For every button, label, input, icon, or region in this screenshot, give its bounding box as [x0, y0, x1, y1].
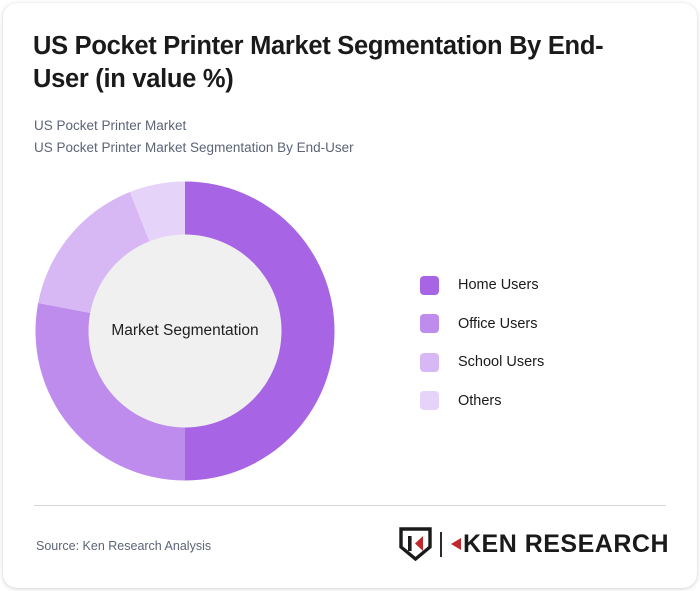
legend-label: Office Users: [458, 316, 538, 332]
shield-k-icon: [399, 527, 432, 561]
legend-swatch: [420, 353, 439, 372]
chart-card: US Pocket Printer Market Segmentation By…: [3, 3, 697, 588]
donut-hole: [89, 235, 282, 428]
logo-wordmark: KEN RESEARCH: [449, 530, 669, 559]
legend-item[interactable]: Others: [420, 382, 544, 421]
logo-wordmark-text: KEN RESEARCH: [463, 530, 669, 559]
donut-svg: [35, 181, 335, 481]
footer-divider: [34, 505, 666, 506]
legend-item[interactable]: School Users: [420, 343, 544, 382]
ken-research-logo: KEN RESEARCH: [399, 527, 669, 561]
legend-swatch: [420, 276, 439, 295]
legend-label: Home Users: [458, 277, 539, 293]
subtitle-block: US Pocket Printer Market US Pocket Print…: [34, 115, 354, 159]
subtitle-line-market: US Pocket Printer Market: [34, 115, 354, 137]
logo-divider: [440, 532, 442, 557]
subtitle-line-segmentation: US Pocket Printer Market Segmentation By…: [34, 137, 354, 159]
legend-swatch: [420, 314, 439, 333]
legend-swatch: [420, 391, 439, 410]
chart-legend: Home UsersOffice UsersSchool UsersOthers: [420, 266, 544, 420]
legend-label: School Users: [458, 354, 544, 370]
donut-chart: Market Segmentation: [35, 181, 335, 481]
page-title: US Pocket Printer Market Segmentation By…: [33, 30, 658, 95]
legend-item[interactable]: Home Users: [420, 266, 544, 305]
legend-item[interactable]: Office Users: [420, 305, 544, 344]
legend-label: Others: [458, 393, 502, 409]
chart-area: Market Segmentation Home UsersOffice Use…: [3, 163, 697, 493]
source-note: Source: Ken Research Analysis: [36, 539, 211, 553]
red-triangle-icon: [449, 537, 462, 551]
